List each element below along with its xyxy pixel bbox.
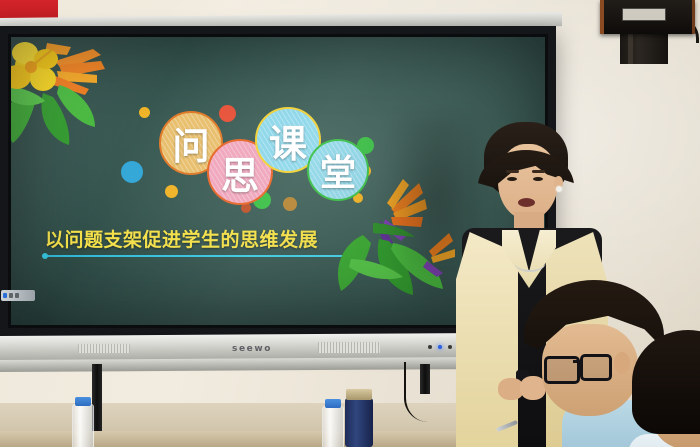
toolbar-dot-2[interactable] [9, 293, 13, 298]
panel-speaker-grille-right [318, 342, 380, 353]
audience-ear [614, 352, 630, 374]
speaker-mount-bracket [620, 34, 668, 64]
panel-speaker-grille-left [78, 344, 130, 353]
eyeglasses-lens-right [580, 354, 612, 381]
toolbar-dot-1[interactable] [3, 293, 7, 298]
presenter-eye-right [533, 177, 543, 181]
bottle-cap [325, 399, 341, 408]
thermos-lid [346, 389, 372, 400]
indicator-light-1 [428, 345, 432, 349]
presenter-mouth [518, 198, 535, 207]
presenter-eye-left [507, 177, 517, 181]
slide-title-character: 堂 [320, 144, 356, 196]
thermos-flask [345, 398, 373, 447]
slide-title-character: 课 [269, 113, 307, 168]
slide-title-character: 思 [221, 145, 259, 200]
presenter-necklace [514, 252, 546, 272]
presenter-brow-left [506, 170, 519, 173]
screen-side-toolbar[interactable] [1, 290, 35, 301]
presenter-brow-right [532, 170, 545, 173]
audience-member-second-row [632, 330, 700, 447]
display-brand-label: seewo [232, 344, 272, 354]
wall-speaker-label [622, 8, 666, 21]
toolbar-dot-3[interactable] [15, 293, 19, 298]
presentation-photo-scene: 问思课堂 以问题支架促进学生的思维发展 [0, 0, 700, 447]
audience2-hair [632, 330, 700, 434]
water-bottle [72, 404, 94, 447]
presenter-vest-left [456, 232, 518, 447]
water-bottle [322, 406, 344, 447]
slide-title-character: 问 [173, 116, 210, 170]
bottle-cap [75, 397, 91, 406]
presenter-earring [556, 186, 562, 192]
